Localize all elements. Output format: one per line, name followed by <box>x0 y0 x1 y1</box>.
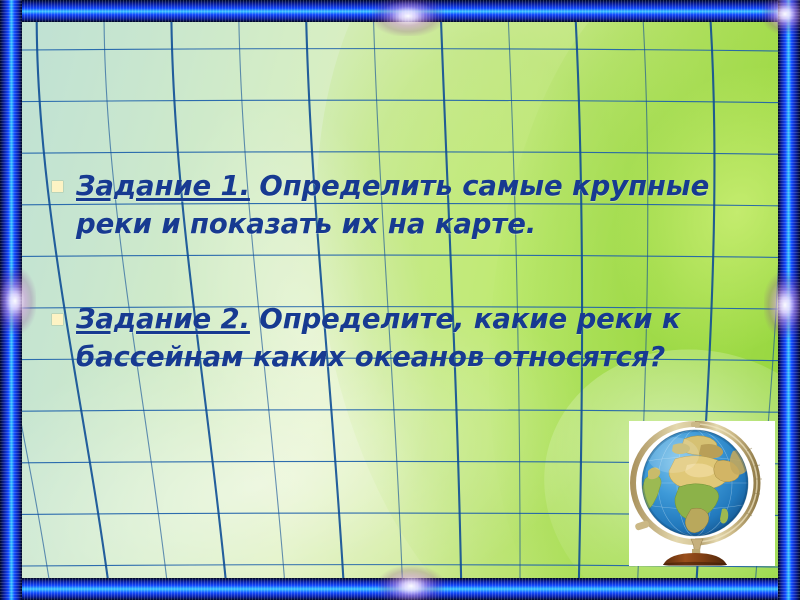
bullet-1-text: Задание 1. Определить самые крупные реки… <box>76 167 752 243</box>
desk-globe-image <box>629 421 775 566</box>
slide-canvas: Задание 1. Определить самые крупные реки… <box>0 0 800 600</box>
bullet-2-label: Задание 2. <box>76 303 250 335</box>
globe-illustration <box>629 421 775 566</box>
frame-band-right <box>778 0 800 600</box>
square-bullet-icon <box>52 314 63 325</box>
bullet-2-text: Задание 2. Определите, какие реки к басс… <box>76 300 752 376</box>
square-bullet-icon <box>52 181 63 192</box>
bullet-item-1: Задание 1. Определить самые крупные реки… <box>52 167 752 243</box>
frame-band-left <box>0 0 22 600</box>
bullet-1-label: Задание 1. <box>76 170 250 202</box>
bullet-item-2: Задание 2. Определите, какие реки к басс… <box>52 300 752 376</box>
frame-band-top <box>0 0 800 22</box>
frame-band-bottom <box>0 578 800 600</box>
